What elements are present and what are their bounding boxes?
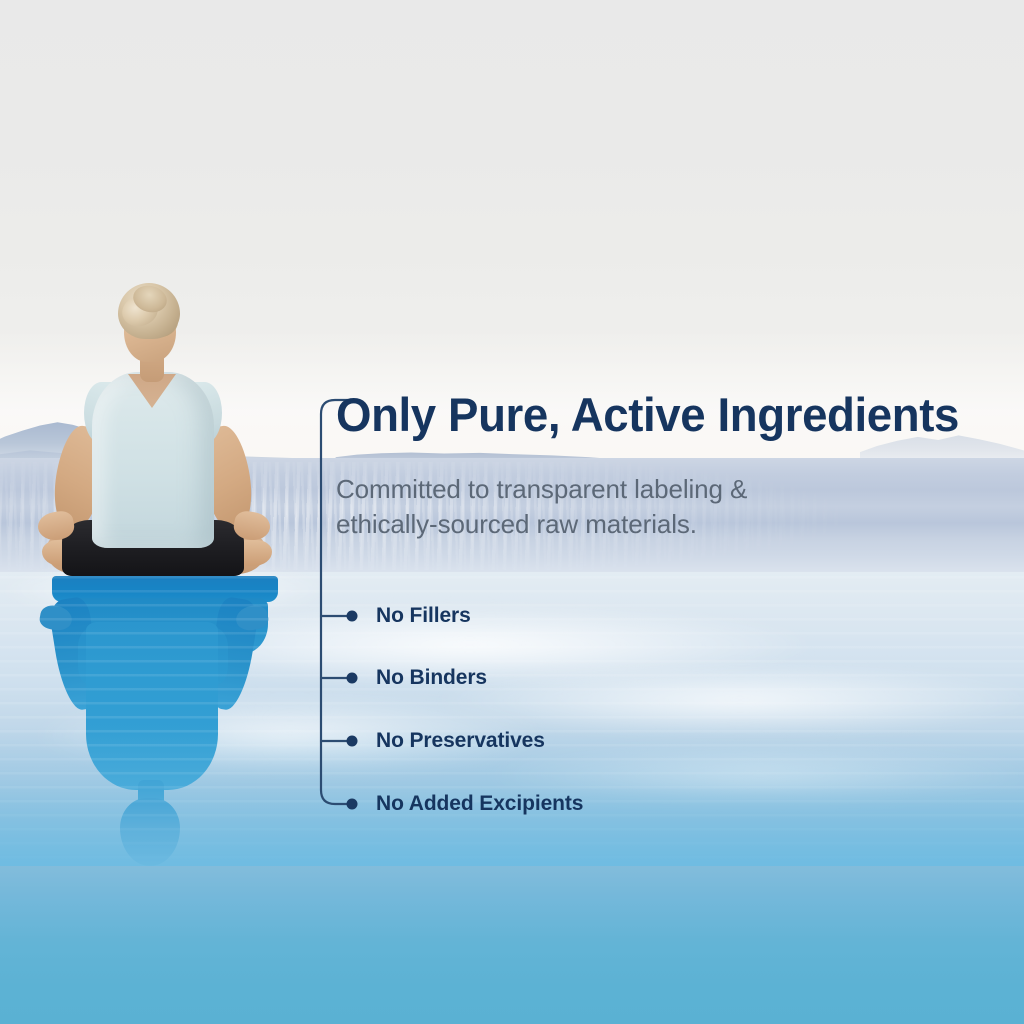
claims-list: No Fillers No Binders No Preservatives N… xyxy=(0,0,1024,1024)
list-item: No Preservatives xyxy=(376,729,545,753)
list-item: No Fillers xyxy=(376,604,471,628)
list-item: No Binders xyxy=(376,666,487,690)
list-item: No Added Excipients xyxy=(376,792,583,816)
infographic-canvas: Only Pure, Active Ingredients Committed … xyxy=(0,0,1024,1024)
